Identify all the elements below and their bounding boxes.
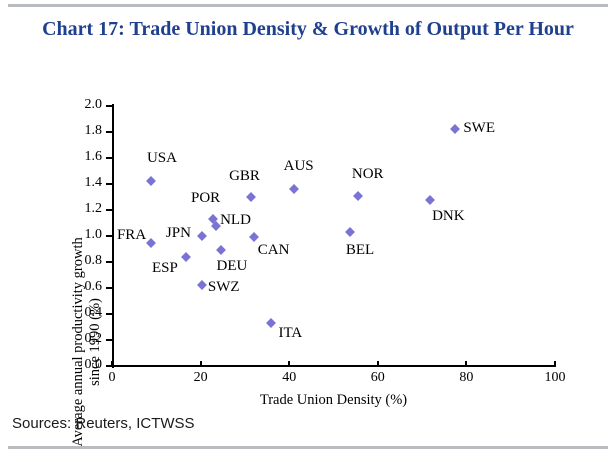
top-divider [8, 4, 608, 7]
data-point-label: POR [191, 190, 220, 207]
data-point-label: SWZ [208, 279, 240, 296]
data-point[interactable] [345, 227, 355, 237]
data-point-label: ITA [278, 325, 302, 342]
x-tick-label: 60 [358, 370, 398, 386]
data-point[interactable] [249, 232, 259, 242]
data-point[interactable] [246, 192, 256, 202]
data-point-label: DNK [432, 208, 465, 225]
y-axis-title-wrap: Average annual productivity growth since… [34, 110, 74, 360]
data-point-label: NOR [352, 166, 384, 183]
data-point[interactable] [289, 184, 299, 194]
data-point-label: GBR [229, 168, 260, 185]
data-point[interactable] [425, 195, 435, 205]
x-tick-label: 40 [269, 370, 309, 386]
data-point[interactable] [353, 191, 363, 201]
data-point[interactable] [146, 176, 156, 186]
data-point[interactable] [216, 245, 226, 255]
data-point[interactable] [146, 238, 156, 248]
bottom-divider [8, 446, 608, 449]
data-point[interactable] [450, 124, 460, 134]
data-point-label: BEL [346, 242, 374, 259]
x-axis-title: Trade Union Density (%) [112, 392, 555, 409]
data-point-label: SWE [463, 120, 495, 137]
data-point[interactable] [197, 231, 207, 241]
data-point-label: NLD [220, 212, 251, 229]
data-point-label: JPN [166, 225, 191, 242]
data-point-label: CAN [258, 242, 290, 259]
x-tick-label: 20 [181, 370, 221, 386]
chart-page: Chart 17: Trade Union Density & Growth o… [0, 0, 616, 453]
data-point[interactable] [197, 280, 207, 290]
data-point[interactable] [181, 252, 191, 262]
page-title: Chart 17: Trade Union Density & Growth o… [20, 16, 596, 42]
data-point-label: USA [147, 150, 177, 167]
sources-note: Sources: Reuters, ICTWSS [12, 415, 195, 432]
x-tick-label: 100 [535, 370, 575, 386]
data-point-label: FRA [117, 227, 146, 244]
scatter-points-layer: USAFRAESPJPNSWZPORNLDDEUGBRCANITAAUSBELN… [112, 106, 555, 366]
x-tick-label: 80 [446, 370, 486, 386]
data-point[interactable] [267, 318, 277, 328]
data-point-label: ESP [152, 260, 178, 277]
data-point-label: AUS [284, 158, 314, 175]
data-point-label: DEU [217, 258, 248, 275]
